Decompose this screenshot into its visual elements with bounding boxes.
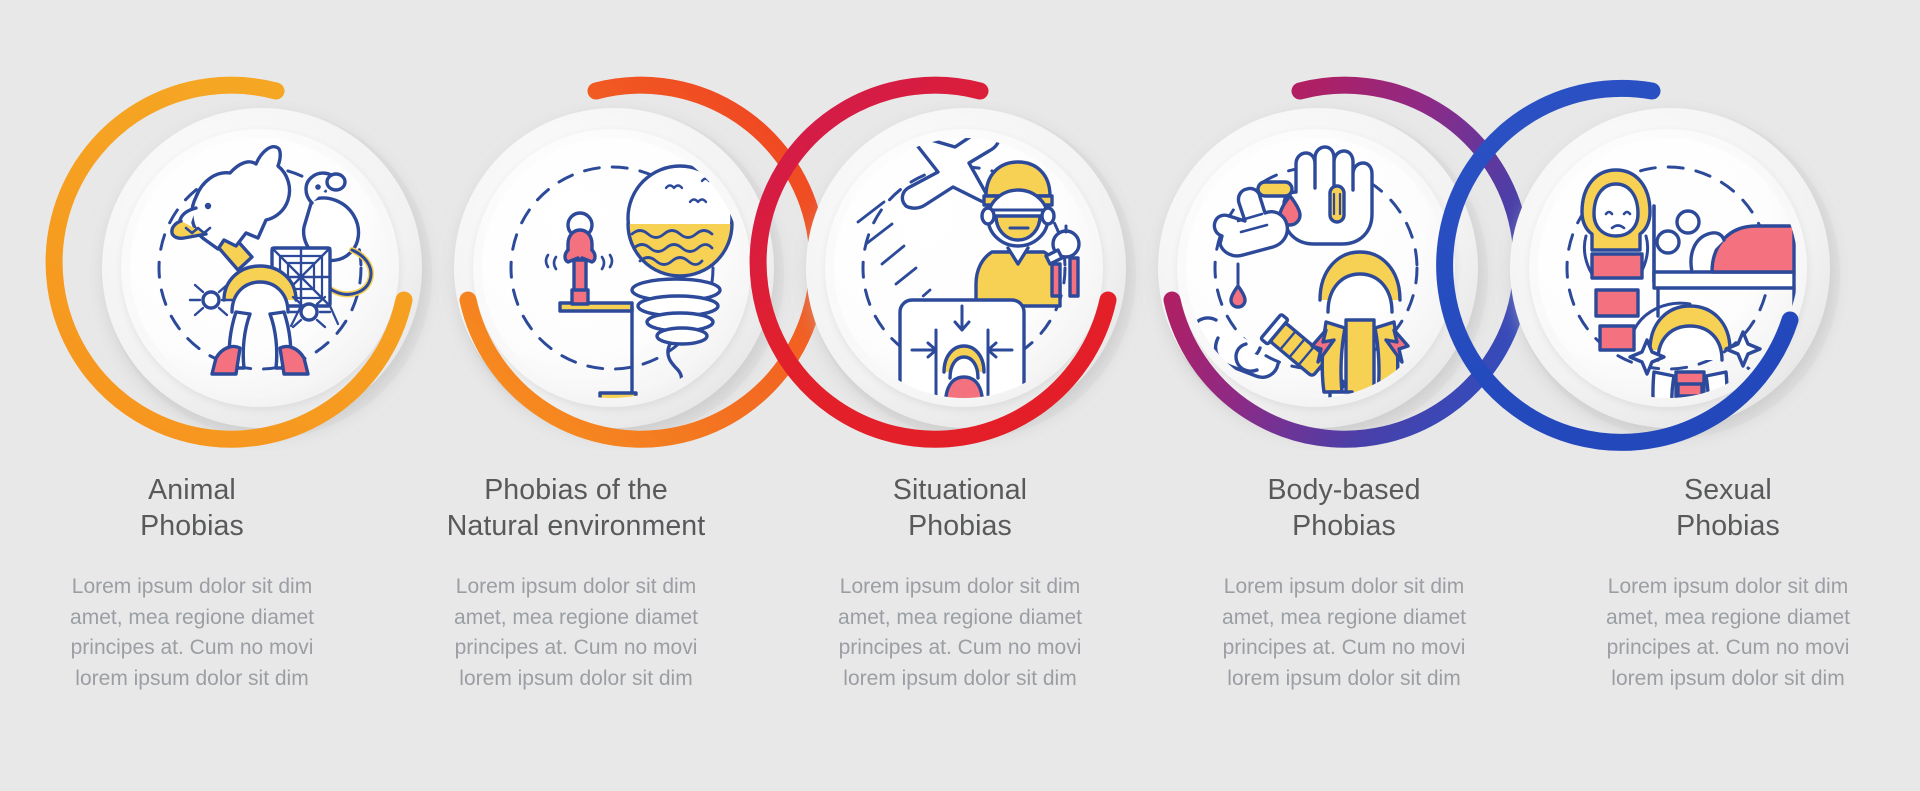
captions-row: Animal Phobias Lorem ipsum dolor sit dim… — [0, 472, 1920, 732]
node-animal[interactable] — [54, 85, 432, 439]
node-sexual[interactable] — [1445, 88, 1840, 442]
step-title-animal: Animal Phobias — [28, 472, 356, 544]
step-body-body-based: Lorem ipsum dolor sit dim amet, mea regi… — [1180, 572, 1508, 694]
caption-situational: Situational Phobias Lorem ipsum dolor si… — [768, 472, 1152, 732]
phobias-infographic: Animal Phobias Lorem ipsum dolor sit dim… — [0, 0, 1920, 791]
caption-natural-environment: Phobias of the Natural environment Lorem… — [384, 472, 768, 732]
step-body-animal: Lorem ipsum dolor sit dim amet, mea regi… — [28, 572, 356, 694]
step-title-sexual: Sexual Phobias — [1564, 472, 1892, 544]
step-title-body-based: Body-based Phobias — [1180, 472, 1508, 544]
caption-body-based: Body-based Phobias Lorem ipsum dolor sit… — [1152, 472, 1536, 732]
caption-animal: Animal Phobias Lorem ipsum dolor sit dim… — [0, 472, 384, 732]
step-body-natural-environment: Lorem ipsum dolor sit dim amet, mea regi… — [412, 572, 740, 694]
step-title-situational: Situational Phobias — [796, 472, 1124, 544]
step-title-natural-environment: Phobias of the Natural environment — [412, 472, 740, 544]
node-situational[interactable] — [758, 85, 1136, 439]
caption-sexual: Sexual Phobias Lorem ipsum dolor sit dim… — [1536, 472, 1920, 732]
step-body-situational: Lorem ipsum dolor sit dim amet, mea regi… — [796, 572, 1124, 694]
step-body-sexual: Lorem ipsum dolor sit dim amet, mea regi… — [1564, 572, 1892, 694]
node-body-based[interactable] — [1158, 85, 1522, 439]
